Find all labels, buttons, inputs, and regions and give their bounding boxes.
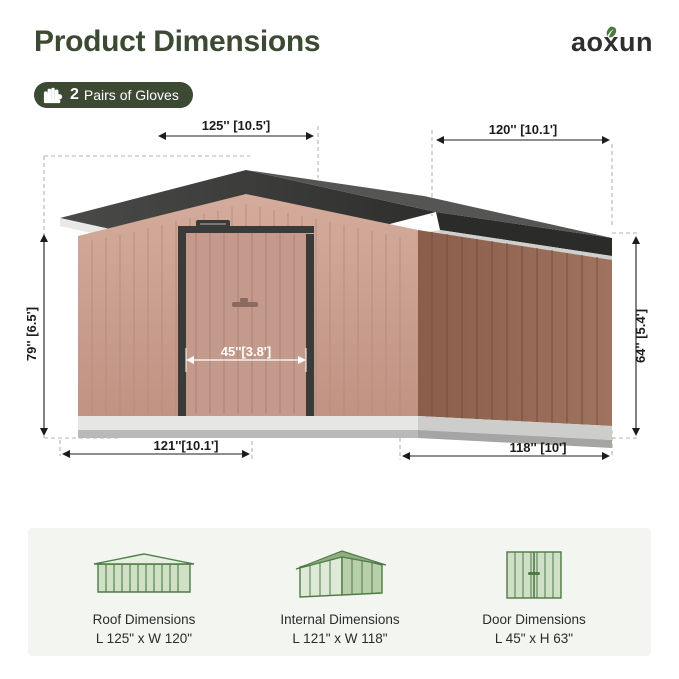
door-rail-right (306, 234, 314, 416)
spec-internal: Internal Dimensions L 121" x W 118" (240, 546, 440, 646)
header: Product Dimensions aoxun 2 Pairs of Glov… (0, 0, 679, 120)
spec-door: Door Dimensions L 45" x H 63" (434, 546, 634, 646)
spec-door-value: L 45" x H 63" (434, 631, 634, 646)
spec-roof: Roof Dimensions L 125" x W 120" (44, 546, 244, 646)
dim-door-width: 45''[3.8'] (221, 344, 271, 359)
spec-internal-title: Internal Dimensions (240, 612, 440, 627)
gloves-icon (42, 85, 64, 105)
dim-base-width: 118'' [10'] (510, 440, 567, 455)
base-shadow-front (78, 430, 418, 438)
dim-roof-length: 125'' [10.5'] (202, 118, 271, 133)
door-rail-left (178, 228, 186, 416)
spec-roof-title: Roof Dimensions (44, 612, 244, 627)
spec-door-title: Door Dimensions (434, 612, 634, 627)
dim-base-length: 121''[10.1'] (154, 438, 219, 453)
base-front (78, 416, 418, 430)
dim-height: 79'' [6.5'] (24, 307, 39, 361)
roof-icon (44, 546, 244, 604)
gloves-label: Pairs of Gloves (84, 87, 179, 103)
spec-internal-value: L 121" x W 118" (240, 631, 440, 646)
dim-roof-width: 120'' [10.1'] (489, 122, 558, 137)
shed-diagram-svg: 125'' [10.5'] 120'' [10.1'] 79'' [6.5'] … (0, 108, 679, 520)
page-title: Product Dimensions (34, 25, 320, 59)
gloves-badge: 2 Pairs of Gloves (34, 82, 193, 108)
door-header-rail (178, 226, 314, 233)
dim-side-height: 64'' [5.4'] (633, 309, 648, 363)
spec-roof-value: L 125" x W 120" (44, 631, 244, 646)
gloves-count: 2 (70, 86, 79, 104)
shed-diagram: 125'' [10.5'] 120'' [10.1'] 79'' [6.5'] … (0, 108, 679, 520)
door-panel (182, 230, 310, 416)
door-icon (434, 546, 634, 604)
spec-panel: Roof Dimensions L 125" x W 120" Internal… (28, 528, 651, 656)
brand-logo: aoxun (571, 27, 653, 58)
internal-shed-icon (240, 546, 440, 604)
